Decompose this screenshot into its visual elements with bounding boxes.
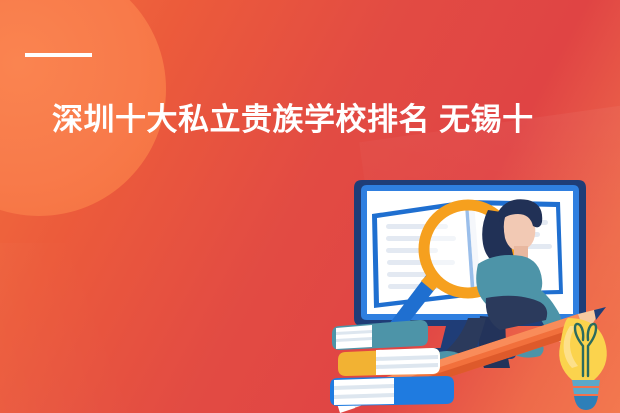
stacked-books-icon xyxy=(330,320,454,406)
title-divider-rule xyxy=(25,53,92,57)
page-title: 深圳十大私立贵族学校排名 无锡十 xyxy=(52,99,620,141)
background-wedge-left xyxy=(0,243,211,413)
lightbulb-icon xyxy=(559,318,607,410)
study-search-illustration xyxy=(328,168,620,413)
banner: 深圳十大私立贵族学校排名 无锡十 xyxy=(0,0,620,413)
